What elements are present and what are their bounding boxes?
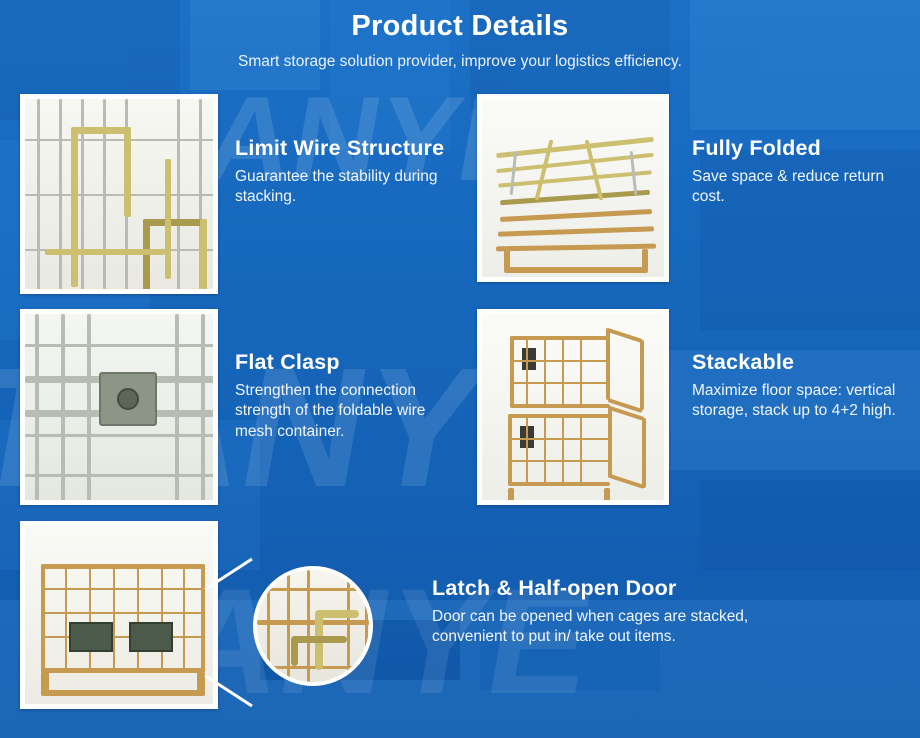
feature-image-limit-wire-structure	[20, 94, 218, 294]
feature-desc: Save space & reduce return cost.	[692, 167, 904, 208]
feature-title: Flat Clasp	[235, 350, 460, 375]
feature-desc: Door can be opened when cages are stacke…	[432, 607, 772, 648]
header: Product Details Smart storage solution p…	[0, 0, 920, 71]
feature-text-limit-wire-structure: Limit Wire Structure Guarantee the stabi…	[235, 136, 475, 208]
feature-text-flat-clasp: Flat Clasp Strengthen the connection str…	[235, 350, 460, 442]
feature-desc: Strengthen the connection strength of th…	[235, 381, 460, 442]
feature-desc: Guarantee the stability during stacking.	[235, 167, 475, 208]
feature-image-fully-folded	[477, 94, 669, 282]
feature-text-fully-folded: Fully Folded Save space & reduce return …	[692, 136, 904, 208]
page-subtitle: Smart storage solution provider, improve…	[0, 53, 920, 71]
feature-image-latch-closeup	[253, 566, 383, 696]
feature-text-stackable: Stackable Maximize floor space: vertical…	[692, 350, 902, 422]
feature-text-latch-half-open-door: Latch & Half-open Door Door can be opene…	[432, 576, 772, 648]
feature-title: Latch & Half-open Door	[432, 576, 772, 601]
feature-title: Limit Wire Structure	[235, 136, 475, 161]
feature-image-stackable	[477, 309, 669, 505]
feature-title: Fully Folded	[692, 136, 904, 161]
page-title: Product Details	[0, 10, 920, 43]
feature-desc: Maximize floor space: vertical storage, …	[692, 381, 902, 422]
feature-image-latch-half-open-door	[20, 521, 218, 709]
feature-image-flat-clasp	[20, 309, 218, 505]
feature-title: Stackable	[692, 350, 902, 375]
